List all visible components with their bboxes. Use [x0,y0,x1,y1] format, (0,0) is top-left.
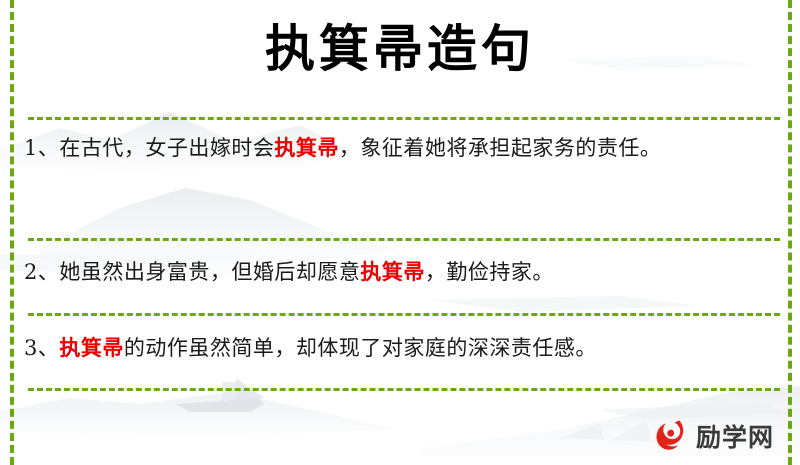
site-logo[interactable]: 励学网 [652,414,784,458]
divider-below-sentence-3 [28,388,780,391]
keyword-highlight: 执箕帚 [59,335,124,360]
list-item: 2、她虽然出身富贵，但婚后却愿意执箕帚，勤俭持家。 [24,252,776,292]
sentence-segment: 的动作虽然简单，却体现了对家庭的深深责任感。 [124,336,597,360]
sentence-segment: ，勤俭持家。 [425,260,554,284]
page-title: 执箕帚造句 [0,16,800,82]
sentence-index: 3、 [24,336,59,360]
poster-canvas: 执箕帚造句 1、在古代，女子出嫁时会执箕帚，象征着她将承担起家务的责任。 2、她… [0,0,800,465]
sentence-segment: 她虽然出身富贵，但婚后却愿意 [59,260,360,284]
keyword-highlight: 执箕帚 [360,259,425,284]
sentence-segment: ，象征着她将承担起家务的责任。 [339,136,662,160]
list-item: 1、在古代，女子出嫁时会执箕帚，象征着她将承担起家务的责任。 [24,128,776,168]
keyword-highlight: 执箕帚 [274,135,339,160]
sentence-segment: 在古代，女子出嫁时会 [59,136,274,160]
divider-above-sentence-2 [28,238,780,241]
divider-above-sentence-1 [28,117,780,120]
left-dashed-border [10,0,14,465]
logo-text: 励学网 [696,418,774,454]
sentence-index: 2、 [24,260,59,284]
divider-above-sentence-3 [28,313,780,316]
right-dashed-border [788,0,792,465]
sentence-index: 1、 [24,136,59,160]
list-item: 3、执箕帚的动作虽然简单，却体现了对家庭的深深责任感。 [24,328,776,368]
red-swirl-flame-icon [652,416,692,456]
